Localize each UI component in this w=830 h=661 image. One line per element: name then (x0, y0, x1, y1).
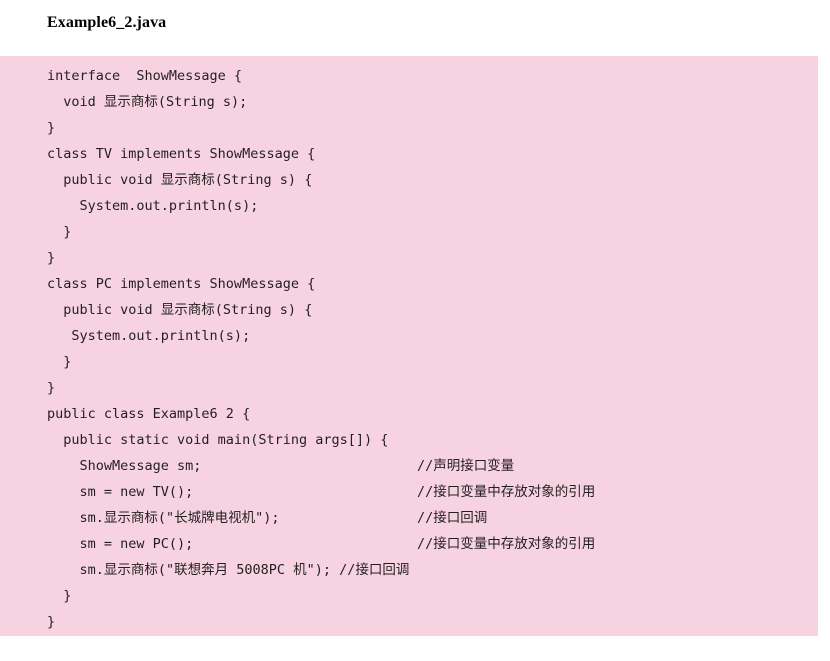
code-line-text: } (47, 609, 55, 635)
code-line-text: } (47, 583, 71, 609)
code-line-comment: //接口变量中存放对象的引用 (417, 531, 595, 557)
code-line: public void 显示商标(String s) { (0, 297, 818, 323)
code-line: public static void main(String args[]) { (0, 427, 818, 453)
code-line: } (0, 245, 818, 271)
code-line-text: System.out.println(s); (47, 323, 250, 349)
code-line: } (0, 115, 818, 141)
code-line: sm.显示商标("联想奔月 5008PC 机"); //接口回调 (0, 557, 818, 583)
code-line-text: interface ShowMessage { (47, 63, 242, 89)
document-page: Example6_2.java interface ShowMessage { … (0, 0, 830, 661)
code-line-text: } (47, 115, 55, 141)
code-line-comment: //接口回调 (417, 505, 487, 531)
code-line: public class Example6 2 { (0, 401, 818, 427)
code-line-text: ShowMessage sm; (47, 453, 201, 479)
code-line: System.out.println(s); (0, 193, 818, 219)
code-listing-block: interface ShowMessage { void 显示商标(String… (0, 56, 818, 636)
page-title: Example6_2.java (47, 13, 166, 33)
code-line: public void 显示商标(String s) { (0, 167, 818, 193)
code-line-comment: //接口变量中存放对象的引用 (417, 479, 595, 505)
code-line: class PC implements ShowMessage { (0, 271, 818, 297)
code-line: } (0, 349, 818, 375)
code-line: sm.显示商标("长城牌电视机");//接口回调 (0, 505, 818, 531)
code-line-text: System.out.println(s); (47, 193, 258, 219)
code-lines-container: interface ShowMessage { void 显示商标(String… (0, 63, 818, 635)
code-line: interface ShowMessage { (0, 63, 818, 89)
code-line-comment: //声明接口变量 (417, 453, 514, 479)
code-line-text: class TV implements ShowMessage { (47, 141, 315, 167)
code-line-text: public void 显示商标(String s) { (47, 167, 312, 193)
code-line-text: } (47, 219, 71, 245)
code-line-text: sm.显示商标("长城牌电视机"); (47, 505, 280, 531)
code-line-text: void 显示商标(String s); (47, 89, 247, 115)
code-line: ShowMessage sm;//声明接口变量 (0, 453, 818, 479)
code-line: } (0, 583, 818, 609)
code-line-text: } (47, 245, 55, 271)
code-line-text: } (47, 349, 71, 375)
code-line: sm = new PC();//接口变量中存放对象的引用 (0, 531, 818, 557)
code-line: sm = new TV();//接口变量中存放对象的引用 (0, 479, 818, 505)
code-line-text: public class Example6 2 { (47, 401, 250, 427)
code-line-text: sm = new TV(); (47, 479, 193, 505)
code-line-text: public void 显示商标(String s) { (47, 297, 312, 323)
code-line: void 显示商标(String s); (0, 89, 818, 115)
code-line-text: sm = new PC(); (47, 531, 193, 557)
code-line: } (0, 375, 818, 401)
code-line: System.out.println(s); (0, 323, 818, 349)
code-line-text: sm.显示商标("联想奔月 5008PC 机"); //接口回调 (47, 557, 409, 583)
code-line-text: class PC implements ShowMessage { (47, 271, 315, 297)
code-line: } (0, 609, 818, 635)
code-line: class TV implements ShowMessage { (0, 141, 818, 167)
code-line: } (0, 219, 818, 245)
code-line-text: } (47, 375, 55, 401)
code-line-text: public static void main(String args[]) { (47, 427, 388, 453)
